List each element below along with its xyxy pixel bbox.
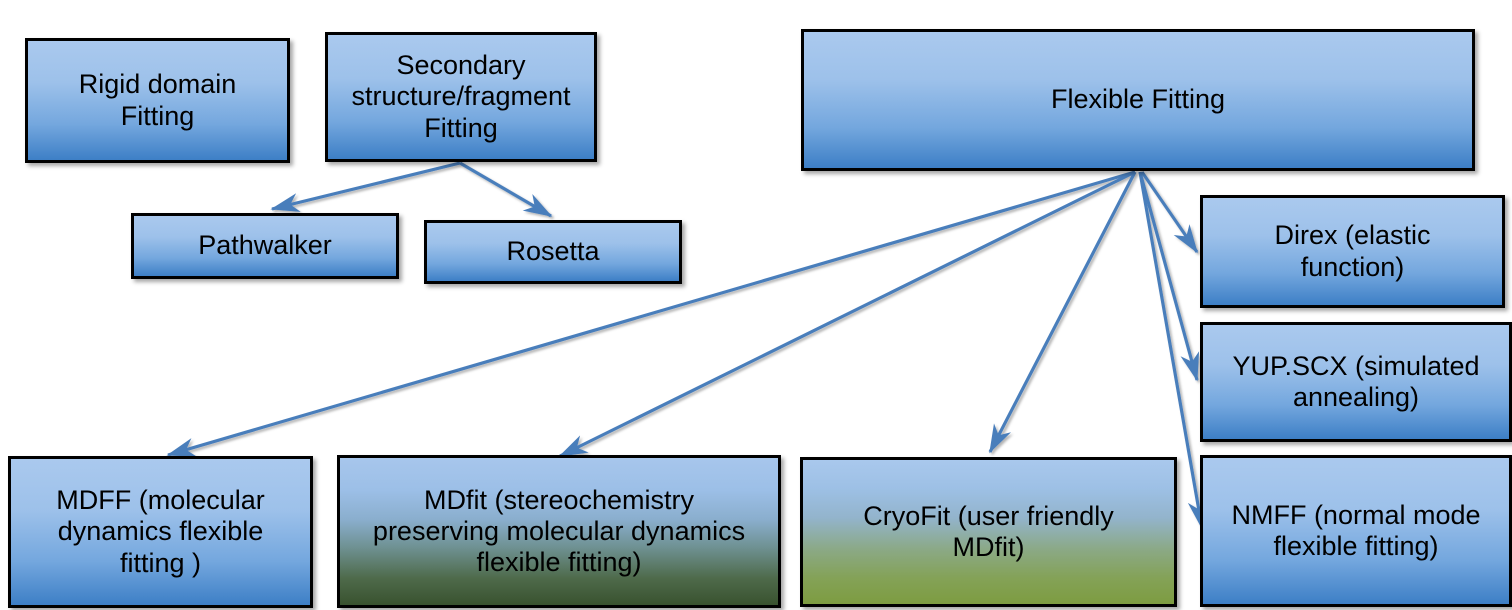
node-label: Direx (elastic function): [1274, 220, 1430, 283]
node-direx[interactable]: Direx (elastic function): [1200, 195, 1505, 308]
node-rosetta[interactable]: Rosetta: [424, 220, 682, 284]
node-label: MDfit (stereochemistry preserving molecu…: [373, 485, 745, 579]
arrow-secondary-to-rosetta: [460, 163, 551, 216]
node-yup-scx[interactable]: YUP.SCX (simulated annealing): [1200, 322, 1512, 442]
arrow-flexible-to-yupscx: [1140, 172, 1197, 380]
node-label: YUP.SCX (simulated annealing): [1232, 351, 1479, 414]
node-mdff[interactable]: MDFF (molecular dynamics flexible fittin…: [8, 456, 313, 608]
diagram-canvas: Rigid domain Fitting Secondary structure…: [0, 0, 1512, 610]
node-label: Rigid domain Fitting: [79, 69, 237, 132]
node-pathwalker[interactable]: Pathwalker: [131, 213, 399, 279]
node-rigid-domain-fitting[interactable]: Rigid domain Fitting: [25, 38, 290, 163]
arrow-flexible-to-direx: [1142, 172, 1197, 252]
node-label: Secondary structure/fragment Fitting: [351, 50, 570, 144]
node-secondary-structure-fitting[interactable]: Secondary structure/fragment Fitting: [325, 32, 597, 162]
arrow-flexible-to-mdfit: [560, 172, 1135, 456]
arrow-flexible-to-cryofit: [990, 172, 1135, 452]
node-label: MDFF (molecular dynamics flexible fittin…: [56, 485, 265, 579]
node-mdfit[interactable]: MDfit (stereochemistry preserving molecu…: [337, 455, 781, 608]
arrow-secondary-to-pathwalker: [272, 163, 460, 209]
node-label: Pathwalker: [198, 230, 332, 261]
node-nmff[interactable]: NMFF (normal mode flexible fitting): [1200, 455, 1512, 607]
node-label: Rosetta: [506, 236, 599, 267]
node-label: NMFF (normal mode flexible fitting): [1231, 500, 1480, 563]
node-label: CryoFit (user friendly MDfit): [863, 501, 1114, 564]
node-label: Flexible Fitting: [1051, 84, 1225, 115]
node-flexible-fitting[interactable]: Flexible Fitting: [801, 29, 1475, 171]
node-cryofit[interactable]: CryoFit (user friendly MDfit): [800, 457, 1177, 607]
